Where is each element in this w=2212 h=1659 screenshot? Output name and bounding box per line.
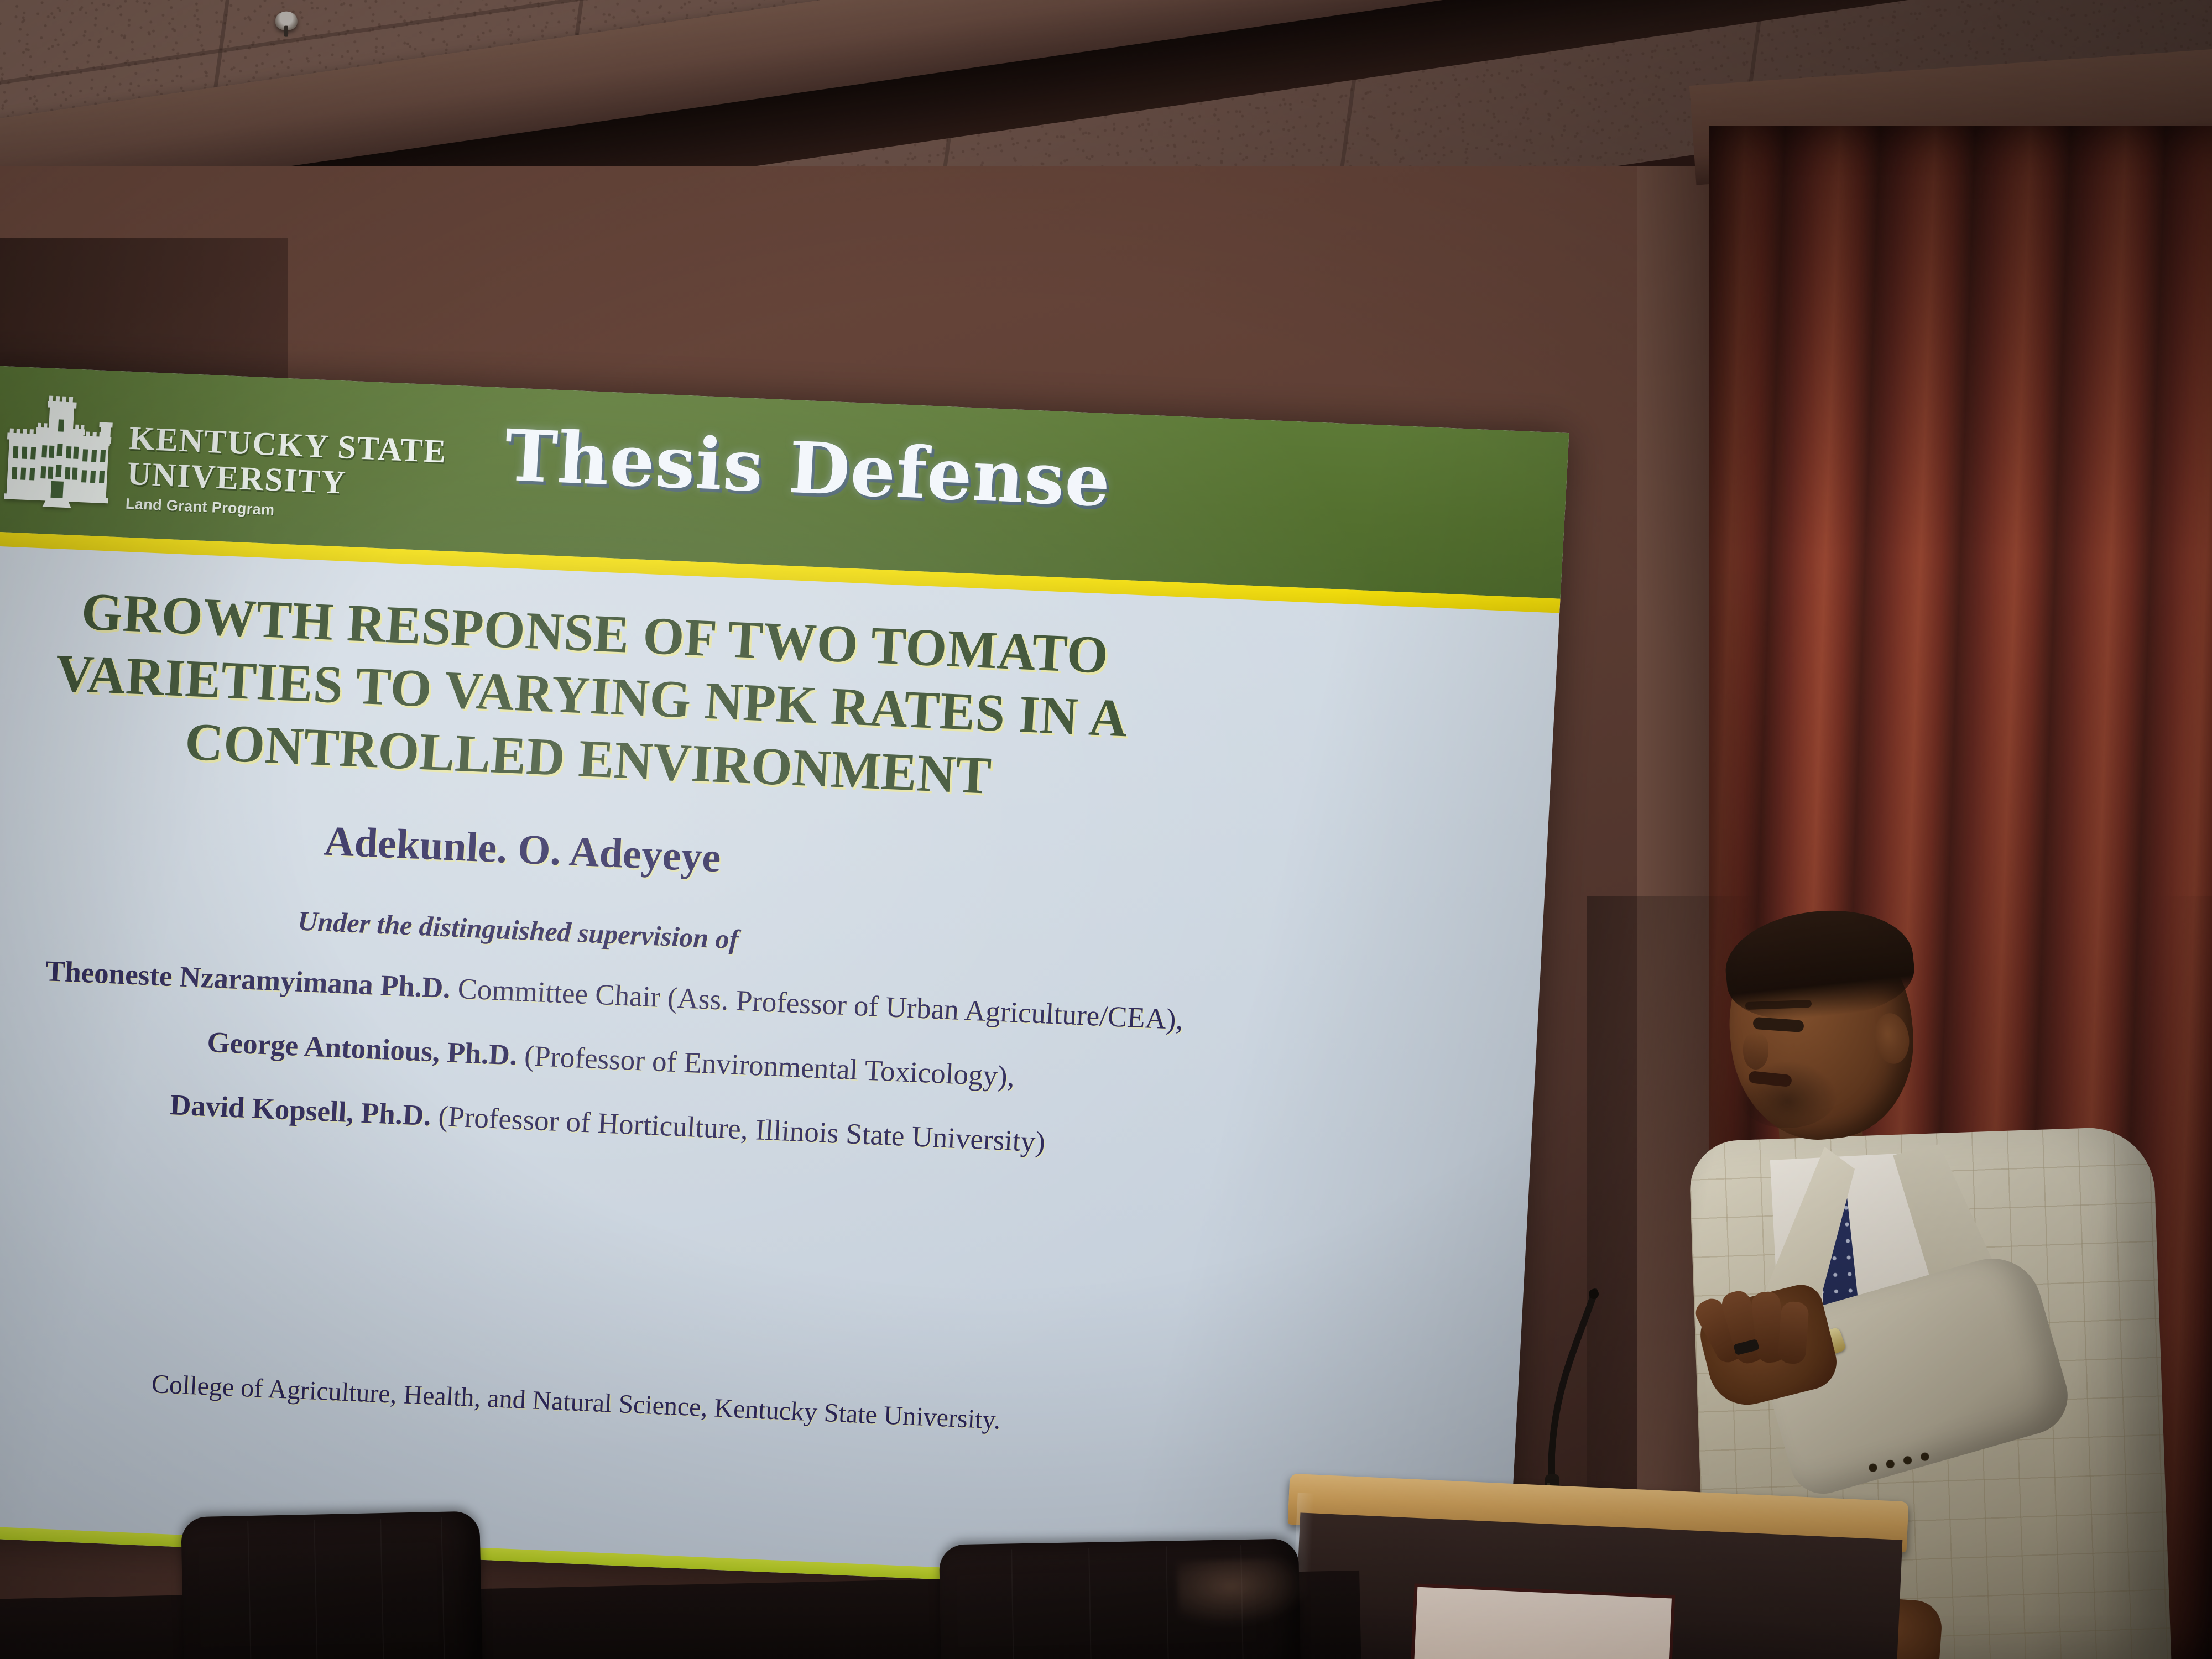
- slide-college-footer: College of Agriculture, Health, and Natu…: [0, 1362, 1157, 1442]
- presentation-slide: KENTUCKY STATE UNIVERSITY Land Grant Pro…: [0, 365, 1569, 1604]
- committee-member-role: (Professor of Environmental Toxicology),: [524, 1040, 1016, 1093]
- auditorium-seat: [181, 1511, 483, 1659]
- committee-member-role: (Professor of Horticulture, Illinois Sta…: [437, 1100, 1046, 1159]
- lectern-front-panel: [1414, 1587, 1672, 1659]
- projection-screen: KENTUCKY STATE UNIVERSITY Land Grant Pro…: [0, 365, 1569, 1604]
- committee-member-role: Committee Chair (Ass. Professor of Urban…: [457, 973, 1184, 1036]
- slide-supervision-label: Under the distinguished supervision of: [20, 893, 1016, 967]
- ksu-castle-building-icon: [1, 393, 116, 510]
- presenter-nose: [1743, 1033, 1768, 1070]
- ksu-logo-wordmark: KENTUCKY STATE UNIVERSITY Land Grant Pro…: [125, 398, 449, 525]
- presenter-finger: [1777, 1301, 1809, 1364]
- ksu-logo: KENTUCKY STATE UNIVERSITY Land Grant Pro…: [1, 393, 449, 525]
- slide-committee-list: Theoneste Nzaramyimana Ph.D. Committee C…: [0, 952, 1251, 1198]
- slide-author-name: Adekunle. O. Adeyeye: [24, 804, 1021, 895]
- seat-highlight: [1177, 1557, 1312, 1628]
- fire-sprinkler-head: [275, 12, 298, 30]
- committee-member-name: David Kopsell, Ph.D.: [169, 1089, 432, 1132]
- committee-member-name: Theoneste Nzaramyimana Ph.D.: [45, 955, 452, 1004]
- slide-thesis-title: GROWTH RESPONSE OF TWO TOMATO VARIETIES …: [29, 578, 1155, 813]
- committee-member-name: George Antonious, Ph.D.: [206, 1026, 518, 1072]
- screenshot-root: KENTUCKY STATE UNIVERSITY Land Grant Pro…: [0, 0, 2212, 1659]
